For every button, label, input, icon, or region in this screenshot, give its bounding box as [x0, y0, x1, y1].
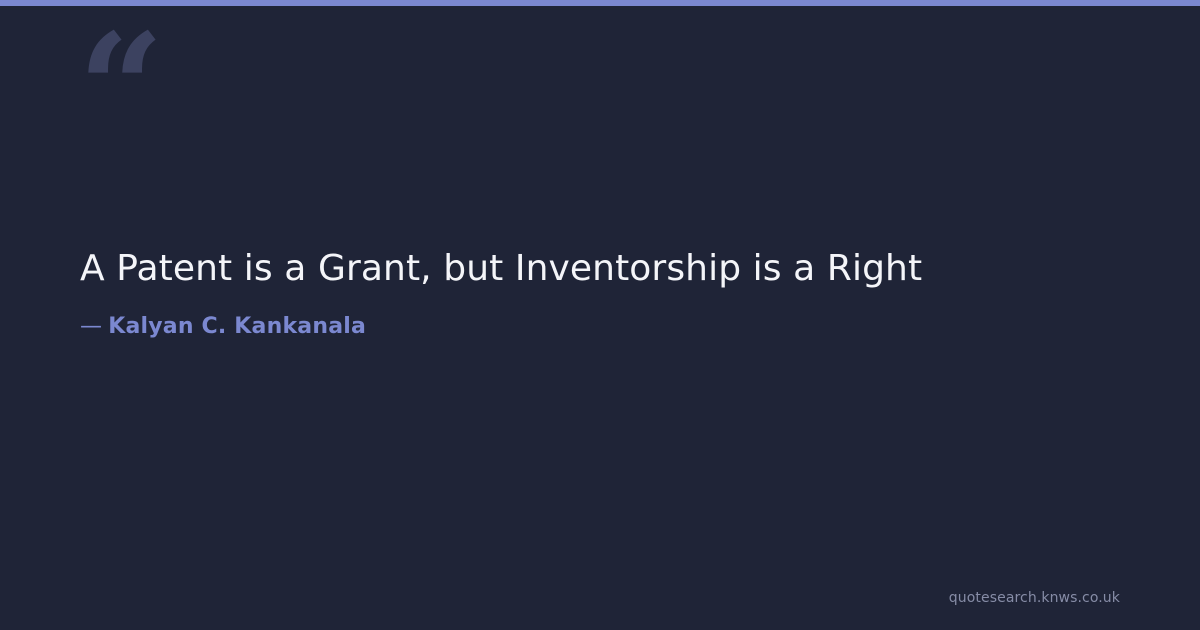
quote-text: A Patent is a Grant, but Inventorship is… [80, 246, 1120, 292]
quote-attribution: —Kalyan C. Kankanala [80, 314, 1120, 339]
attribution-dash: — [80, 314, 102, 339]
quote-card: “ A Patent is a Grant, but Inventorship … [0, 0, 1200, 630]
source-url: quotesearch.knws.co.uk [949, 590, 1120, 606]
quotation-mark-icon: “ [78, 14, 198, 104]
author-name: Kalyan C. Kankanala [108, 314, 366, 339]
quote-content: A Patent is a Grant, but Inventorship is… [80, 246, 1120, 339]
top-accent-bar [0, 0, 1200, 6]
